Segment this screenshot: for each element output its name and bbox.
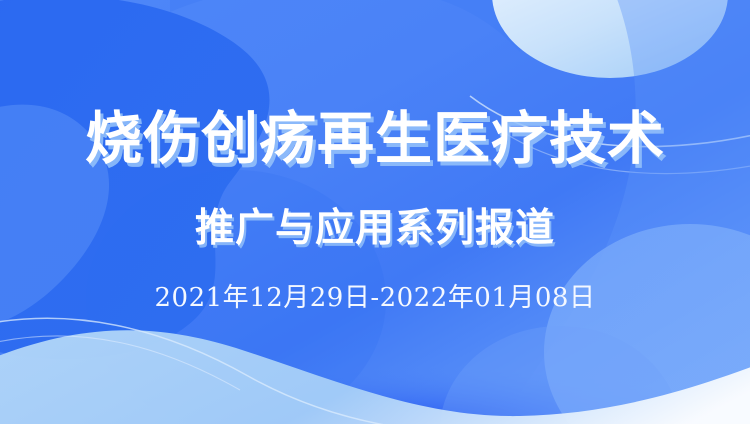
decorative-background-art [0, 0, 750, 424]
promo-banner: 烧伤创疡再生医疗技术 推广与应用系列报道 2021年12月29日-2022年01… [0, 0, 750, 424]
